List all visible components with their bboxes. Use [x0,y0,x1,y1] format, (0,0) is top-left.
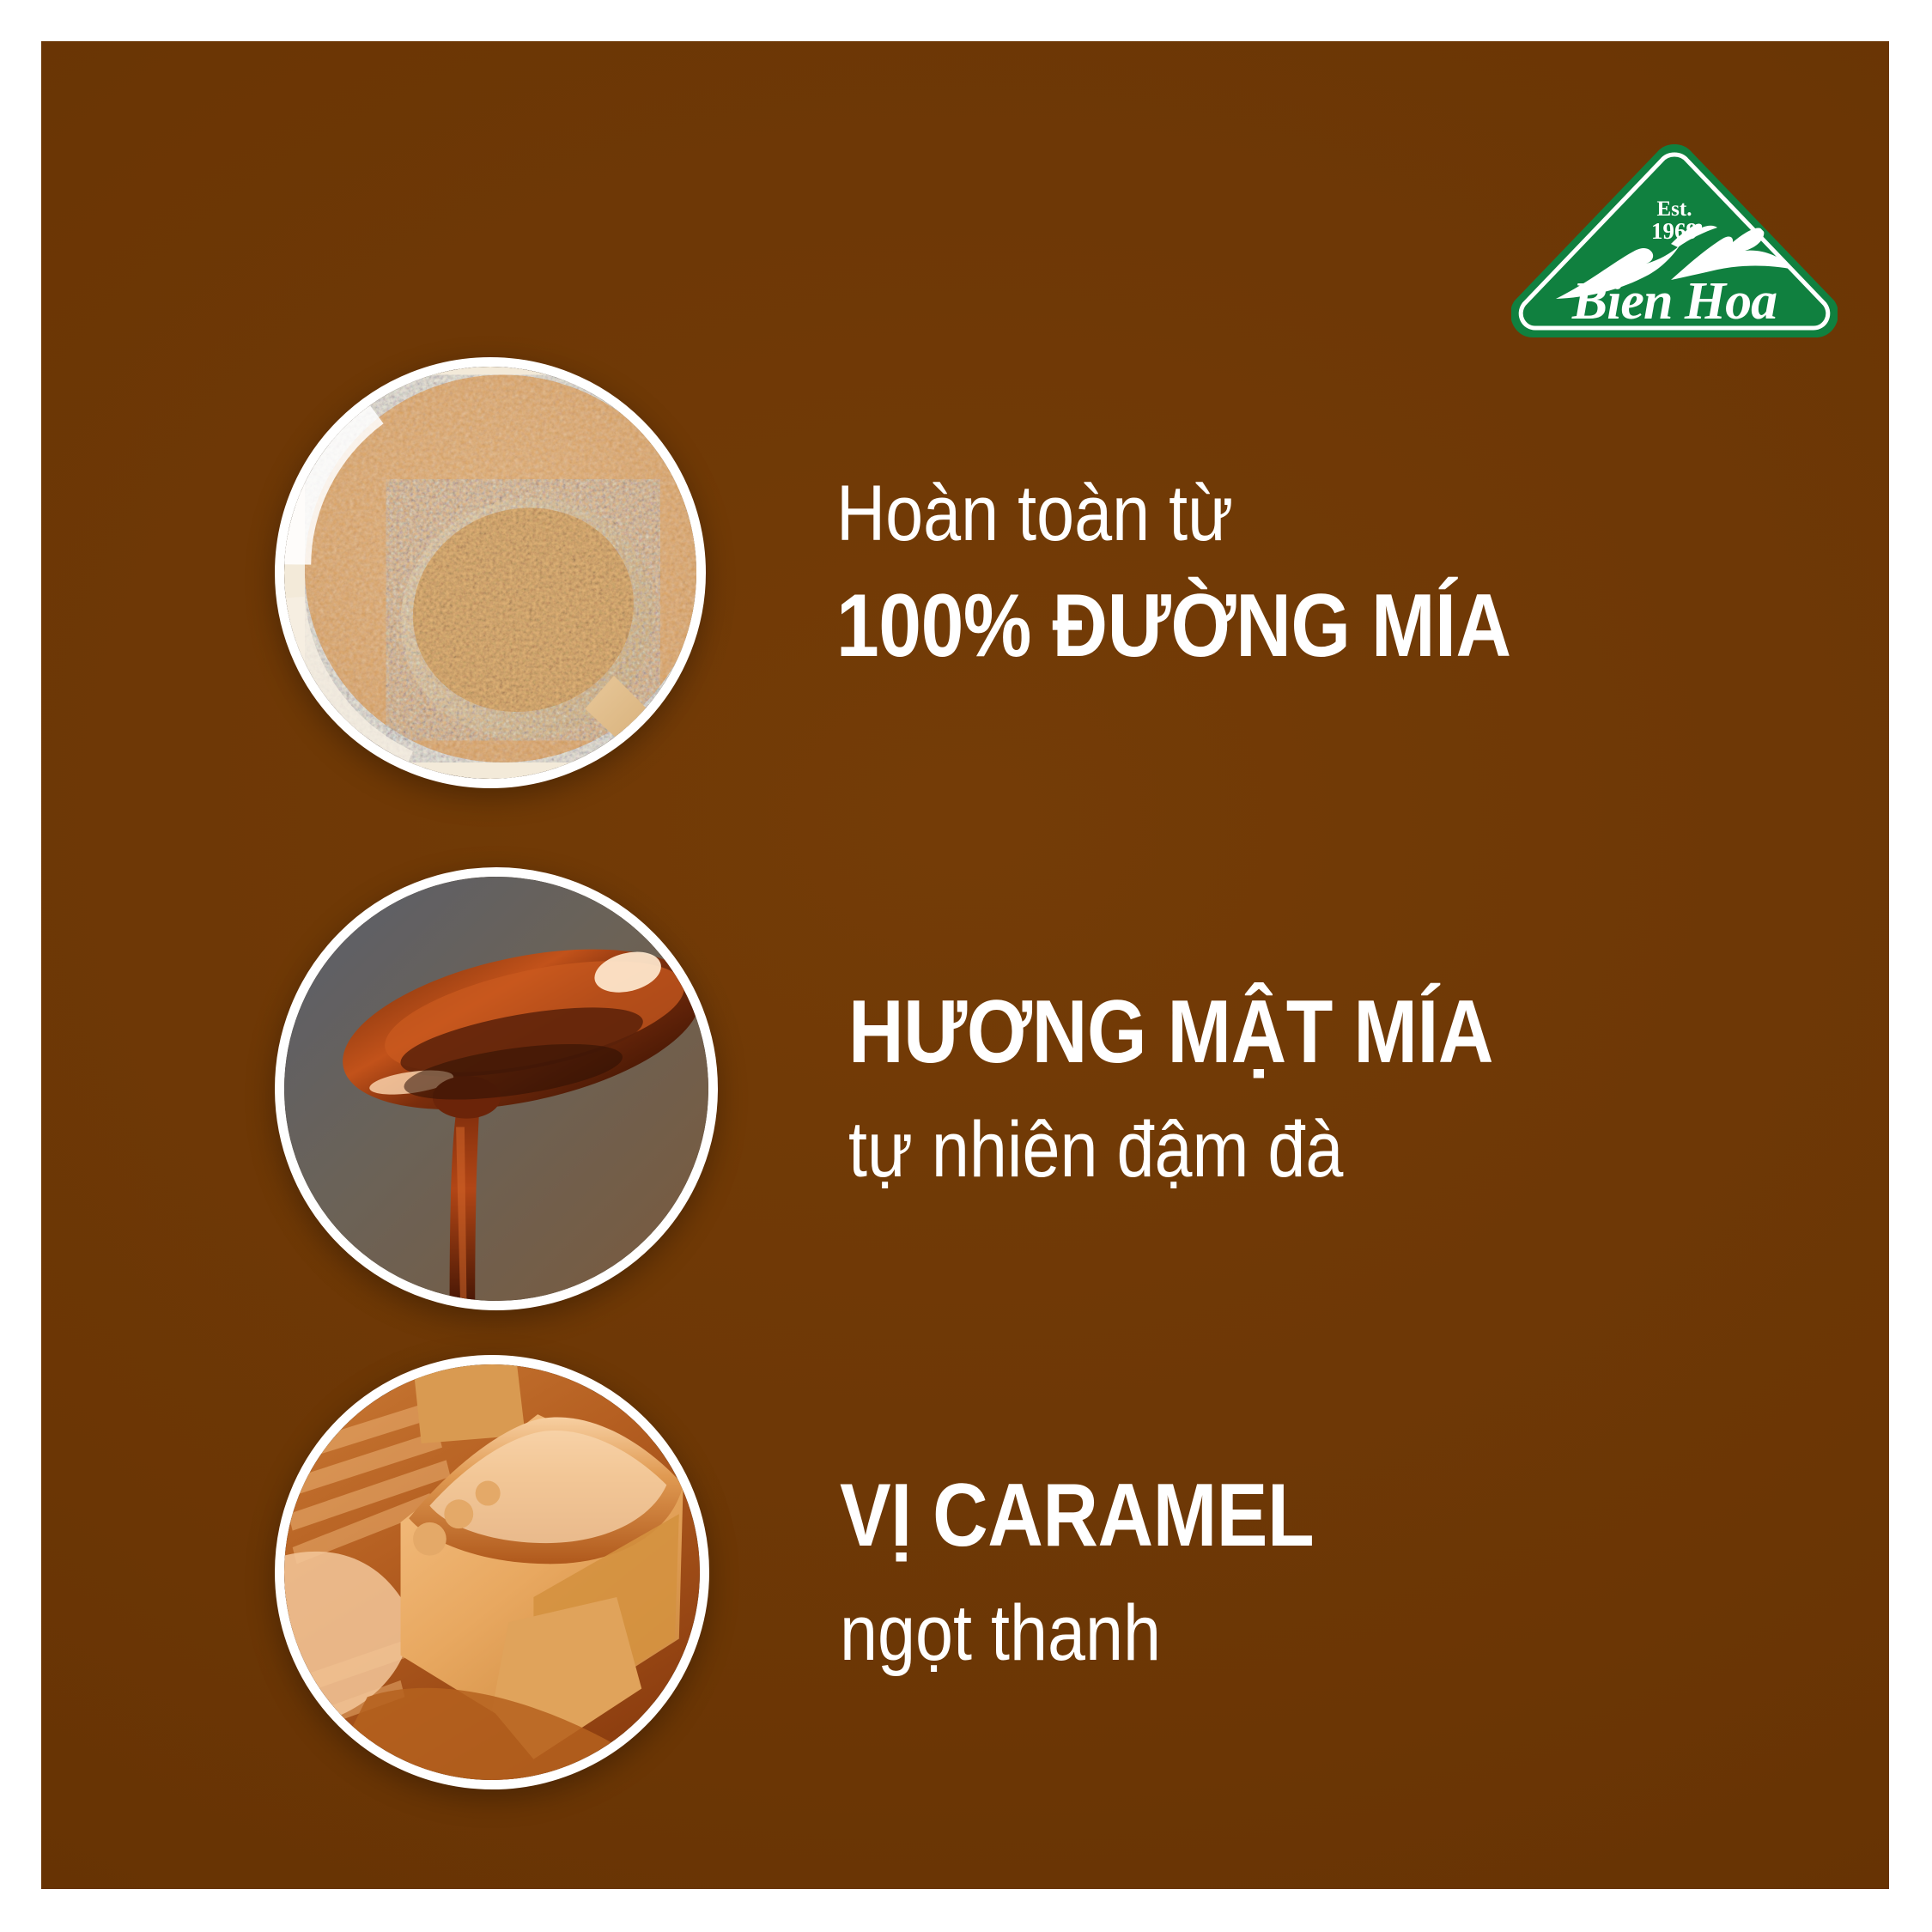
feature-text-sugar: Hoàn toàn từ 100% ĐƯỜNG MÍA [836,472,1735,673]
photo-image [284,367,696,779]
molasses-spoon-photo [275,867,718,1310]
brown-background-panel: Est. 1969 Bien Hoa [41,41,1889,1889]
feature-subtitle: ngọt thanh [840,1592,1609,1676]
feature-subtitle: tự nhiên đậm đà [848,1109,1611,1193]
logo-est-label: Est. [1657,197,1692,221]
photo-image [284,1364,700,1780]
feature-headline: VỊ CARAMEL [840,1468,1609,1563]
feature-row-caramel: VỊ CARAMEL ngọt thanh [275,1355,1735,1789]
feature-text-caramel: VỊ CARAMEL ngọt thanh [840,1468,1735,1676]
feature-row-molasses: HƯƠNG MẬT MÍA tự nhiên đậm đà [275,867,1735,1310]
logo-wordmark: Bien Hoa [1571,272,1777,331]
feature-row-sugar: Hoàn toàn từ 100% ĐƯỜNG MÍA [275,357,1735,788]
bien-hoa-logo[interactable]: Est. 1969 Bien Hoa [1511,143,1838,342]
logo-est-year: 1969 [1651,218,1698,244]
brown-sugar-bowl-photo [275,357,706,788]
feature-headline: HƯƠNG MẬT MÍA [848,985,1611,1079]
photo-image [284,877,708,1301]
feature-subtitle: Hoàn toàn từ [836,472,1609,556]
caramel-cubes-photo [275,1355,709,1789]
infographic-canvas: Est. 1969 Bien Hoa [0,0,1932,1932]
feature-text-molasses: HƯƠNG MẬT MÍA tự nhiên đậm đà [848,985,1735,1193]
feature-headline: 100% ĐƯỜNG MÍA [836,579,1609,673]
